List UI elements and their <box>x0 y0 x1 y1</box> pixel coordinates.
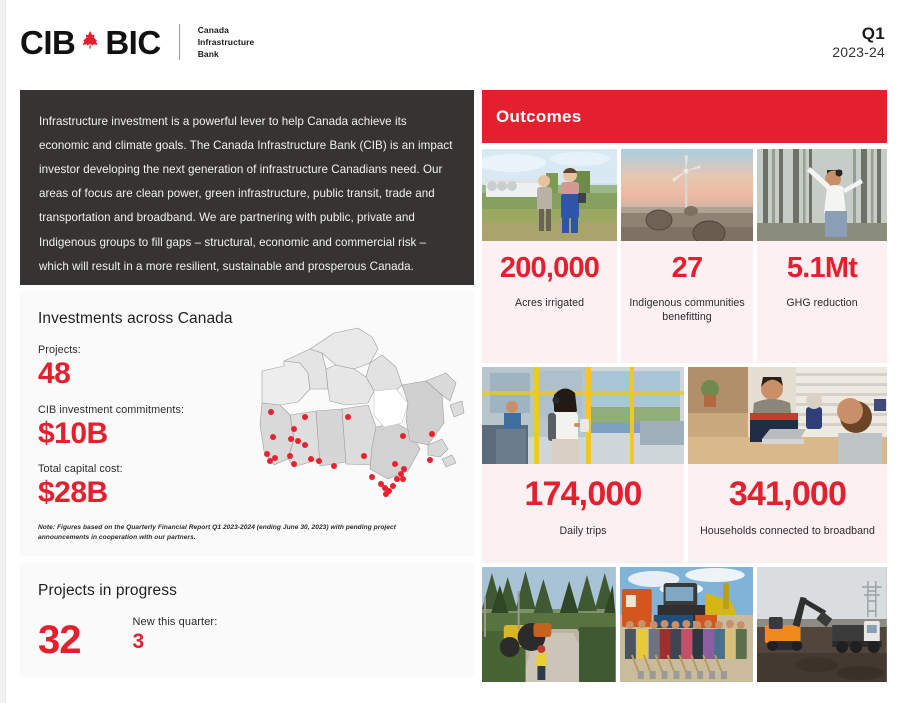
forest-road-construction-vehicle-photo <box>482 567 616 682</box>
wind-turbine-at-dusk-photo <box>621 149 753 241</box>
maple-leaf-icon <box>77 29 103 55</box>
cib-logo: CIB BIC Canada Infrastructure Bank <box>20 24 254 60</box>
outcome-caption: GHG reduction <box>780 296 863 310</box>
woman-in-forest-arms-outstretched-photo <box>757 149 887 241</box>
right-column: Outcomes <box>482 90 887 686</box>
progress-new-label: New this quarter: <box>133 616 218 628</box>
outcome-card-acres-irrigated: 200,000 Acres irrigated <box>482 149 617 363</box>
left-column: Infrastructure investment is a powerful … <box>20 90 474 678</box>
two-farmers-walking-in-field-photo <box>482 149 617 241</box>
logo-subtitle-line-3: Bank <box>198 48 255 60</box>
outcome-card-daily-trips: 174,000 Daily trips <box>482 367 684 563</box>
outcome-number: 27 <box>672 254 703 283</box>
outcome-caption: Households connected to broadband <box>694 524 881 538</box>
logo-text-bic: BIC <box>105 26 160 59</box>
outcome-caption: Daily trips <box>553 524 612 538</box>
projects-in-progress-panel: Projects in progress 32 New this quarter… <box>20 563 474 678</box>
outcome-card-indigenous-communities: 27 Indigenous communities benefitting <box>621 149 753 363</box>
outcome-card-body: 200,000 Acres irrigated <box>482 241 617 363</box>
progress-total-value: 32 <box>38 616 81 660</box>
woman-with-phone-on-bus-photo <box>482 367 684 464</box>
page-header: CIB BIC Canada Infrastructure Bank Q1 20… <box>0 0 907 84</box>
infographic-page: CIB BIC Canada Infrastructure Bank Q1 20… <box>0 0 907 703</box>
fiscal-year-label: 2023-24 <box>832 44 885 62</box>
outcomes-banner: Outcomes <box>482 90 887 143</box>
canada-map-icon <box>250 319 468 504</box>
outcomes-row-3-photo-strip <box>482 567 887 682</box>
progress-title: Projects in progress <box>38 582 456 600</box>
investments-panel: Investments across Canada Projects: 48 C… <box>20 291 474 556</box>
progress-new-group: New this quarter: 3 <box>133 616 218 654</box>
page-left-edge <box>0 0 6 703</box>
logo-wordmark: CIB BIC <box>20 26 161 59</box>
outcome-number: 5.1Mt <box>787 254 857 283</box>
logo-subtitle-line-2: Infrastructure <box>198 36 255 48</box>
outcome-card-body: 27 Indigenous communities benefitting <box>621 241 753 363</box>
photo-card-groundbreaking-ceremony <box>620 567 754 682</box>
outcome-card-body: 341,000 Households connected to broadban… <box>688 464 887 563</box>
outcome-caption: Acres irrigated <box>509 296 590 310</box>
logo-divider <box>179 24 180 60</box>
logo-subtitle-line-1: Canada <box>198 24 255 36</box>
photo-card-excavator-truck <box>757 567 887 682</box>
man-with-laptop-and-child-at-home-photo <box>688 367 887 464</box>
intro-panel: Infrastructure investment is a powerful … <box>20 90 474 285</box>
outcomes-row-1: 200,000 Acres irrigated <box>482 149 887 363</box>
quarter-label: Q1 <box>832 23 885 44</box>
outcome-card-body: 174,000 Daily trips <box>482 464 684 563</box>
quarter-indicator: Q1 2023-24 <box>832 23 885 62</box>
outcome-number: 174,000 <box>524 477 641 511</box>
investments-footnote: Note: Figures based on the Quarterly Fin… <box>38 523 398 543</box>
outcome-number: 200,000 <box>500 254 599 283</box>
outcome-number: 341,000 <box>729 477 846 511</box>
photo-card-forest-road <box>482 567 616 682</box>
outcome-caption: Indigenous communities benefitting <box>621 296 753 324</box>
progress-new-value: 3 <box>133 630 218 654</box>
outcome-card-households-broadband: 341,000 Households connected to broadban… <box>688 367 887 563</box>
excavator-loading-dump-truck-photo <box>757 567 887 682</box>
outcome-card-ghg-reduction: 5.1Mt GHG reduction <box>757 149 887 363</box>
logo-subtitle: Canada Infrastructure Bank <box>198 24 255 60</box>
outcome-card-body: 5.1Mt GHG reduction <box>757 241 887 363</box>
intro-text: Infrastructure investment is a powerful … <box>39 110 453 279</box>
logo-text-cib: CIB <box>20 26 75 59</box>
groundbreaking-ceremony-group-photo <box>620 567 754 682</box>
progress-stats-row: 32 New this quarter: 3 <box>38 616 456 660</box>
outcomes-title: Outcomes <box>496 107 582 127</box>
outcomes-row-2: 174,000 Daily trips <box>482 367 887 563</box>
